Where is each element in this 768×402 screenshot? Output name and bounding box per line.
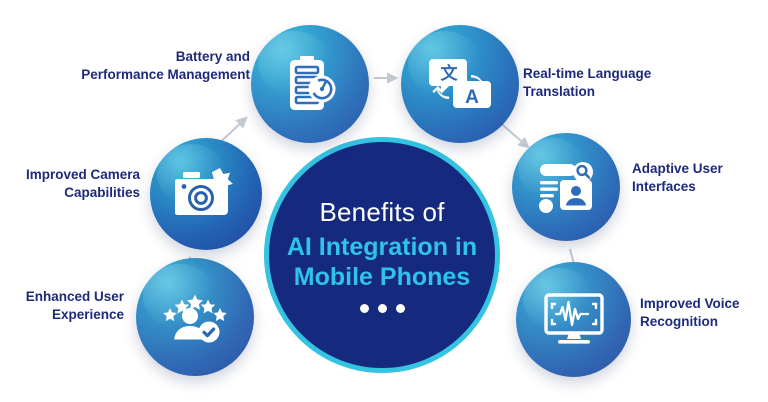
dot-1 xyxy=(360,304,369,313)
infographic-canvas: Benefits of AI Integration in Mobile Pho… xyxy=(0,0,768,402)
svg-text:A: A xyxy=(465,87,479,108)
dot-3 xyxy=(396,304,405,313)
node-user-experience[interactable] xyxy=(136,258,254,376)
center-title-line1: Benefits of xyxy=(319,197,444,228)
center-title-line2: AI Integration in xyxy=(287,232,477,263)
center-title-line3: Mobile Phones xyxy=(294,262,470,293)
camera-sparkle-icon xyxy=(175,167,237,221)
node-adaptive-interfaces[interactable] xyxy=(512,133,620,241)
svg-text:文: 文 xyxy=(441,63,459,84)
node-realtime-translation[interactable]: 文 A xyxy=(401,25,519,143)
dot-2 xyxy=(378,304,387,313)
label-camera-capabilities: Improved Camera Capabilities xyxy=(0,166,140,202)
label-voice-recognition: Improved Voice Recognition xyxy=(640,295,768,331)
decorative-dots xyxy=(360,304,405,313)
label-user-experience: Enhanced User Experience xyxy=(0,288,124,324)
label-adaptive-interfaces: Adaptive User Interfaces xyxy=(632,160,768,196)
stars-user-check-icon xyxy=(163,291,227,343)
node-camera-capabilities[interactable] xyxy=(150,138,262,250)
language-translate-icon: 文 A xyxy=(429,53,491,115)
battery-gauge-icon xyxy=(282,54,338,114)
node-battery-performance[interactable] xyxy=(251,25,369,143)
node-voice-recognition[interactable] xyxy=(516,262,631,377)
center-circle: Benefits of AI Integration in Mobile Pho… xyxy=(264,137,500,373)
label-battery-performance: Battery and Performance Management xyxy=(20,48,250,84)
ui-search-card-icon xyxy=(538,160,594,214)
label-realtime-translation: Real-time Language Translation xyxy=(523,65,753,101)
monitor-waveform-icon xyxy=(544,293,604,347)
